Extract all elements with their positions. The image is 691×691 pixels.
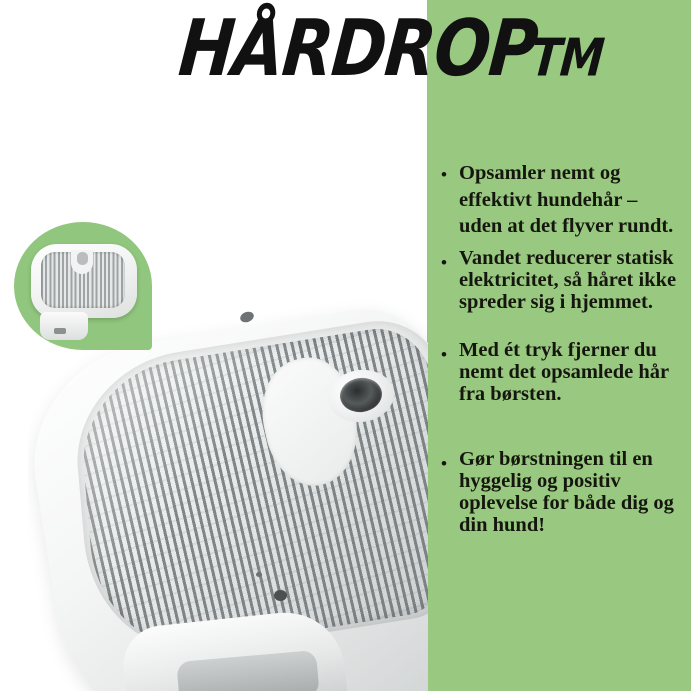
list-item: • Vandet reducerer statisk elektricitet,… <box>441 248 685 314</box>
product-marketing-image: HÅRDROPTM • Opsamler nemt og effektivt h… <box>0 0 691 691</box>
inset-device-port <box>54 328 66 334</box>
bullet-marker-icon: • <box>441 449 459 472</box>
trademark-symbol: TM <box>529 33 605 85</box>
list-item: • Gør børstningen til en hyggelig og pos… <box>441 449 685 537</box>
page-title: HÅRDROPTM <box>176 22 601 88</box>
bullet-text: Opsamler nemt og effektivt hundehår – ud… <box>459 160 685 240</box>
bullet-marker-icon: • <box>441 340 459 363</box>
feature-bullet-list: • Opsamler nemt og effektivt hundehår – … <box>441 160 685 545</box>
surface-detail-dot <box>274 590 287 601</box>
surface-detail-dot <box>239 310 256 324</box>
inset-device-base <box>40 312 88 340</box>
bullet-text: Med ét tryk fjerner du nemt det opsamled… <box>459 340 685 406</box>
bullet-marker-icon: • <box>441 160 459 183</box>
bullet-text: Gør børstningen til en hyggelig og posit… <box>459 449 685 537</box>
list-item: • Opsamler nemt og effektivt hundehår – … <box>441 160 685 240</box>
brand-name: HÅRDROP <box>176 10 540 88</box>
bullet-text: Vandet reducerer statisk elektricitet, s… <box>459 248 685 314</box>
bullet-marker-icon: • <box>441 248 459 271</box>
product-inset-badge <box>14 222 152 350</box>
main-product-photo <box>28 300 428 691</box>
inset-device-button <box>77 252 88 265</box>
list-item: • Med ét tryk fjerner du nemt det opsaml… <box>441 340 685 406</box>
surface-detail-dot <box>256 572 262 577</box>
